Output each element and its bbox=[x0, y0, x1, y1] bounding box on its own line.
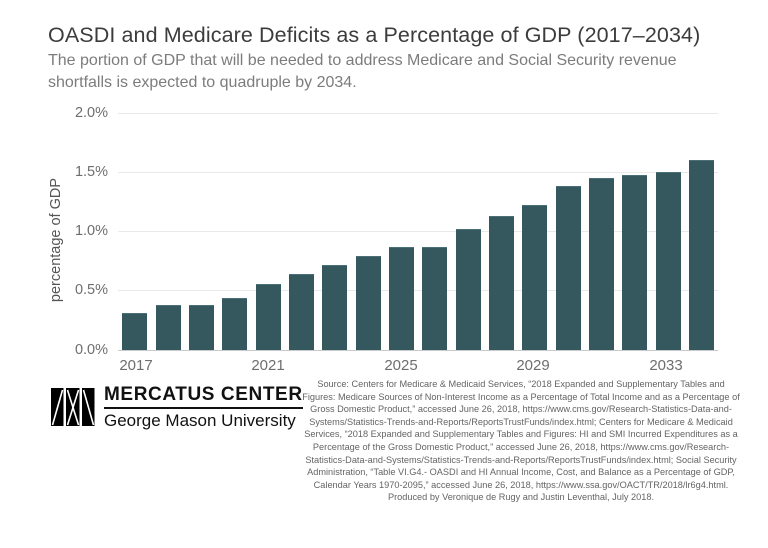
x-tick-label: 2017 bbox=[101, 357, 171, 374]
x-axis-line bbox=[118, 350, 718, 351]
y-tick-label: 1.0% bbox=[46, 224, 108, 239]
bar bbox=[222, 298, 247, 350]
bar bbox=[456, 229, 481, 350]
y-tick-label: 0.0% bbox=[46, 343, 108, 358]
bar bbox=[522, 205, 547, 350]
bar bbox=[289, 274, 314, 350]
mercatus-logo: MERCATUS CENTER George Mason University bbox=[51, 384, 303, 431]
source-note: Source: Centers for Medicare & Medicaid … bbox=[300, 378, 742, 504]
bar bbox=[122, 313, 147, 350]
bar bbox=[489, 216, 514, 350]
bar bbox=[589, 178, 614, 350]
bar bbox=[389, 247, 414, 350]
bar bbox=[256, 284, 281, 350]
x-tick-label: 2033 bbox=[631, 357, 701, 374]
bar bbox=[189, 305, 214, 350]
bar bbox=[322, 265, 347, 350]
bar bbox=[422, 247, 447, 350]
mercatus-logo-subtitle: George Mason University bbox=[104, 411, 303, 431]
bar bbox=[622, 175, 647, 350]
source-text: Source: Centers for Medicare & Medicaid … bbox=[300, 378, 742, 491]
x-tick-label: 2025 bbox=[366, 357, 436, 374]
y-tick-label: 1.5% bbox=[46, 165, 108, 180]
y-tick-label: 0.5% bbox=[46, 283, 108, 298]
y-tick-label: 2.0% bbox=[46, 106, 108, 121]
plot-area bbox=[118, 113, 718, 350]
source-credit: Produced by Veronique de Rugy and Justin… bbox=[300, 491, 742, 504]
chart-figure: OASDI and Medicare Deficits as a Percent… bbox=[0, 0, 768, 548]
y-axis-tick-labels: 2.0% 1.5% 1.0% 0.5% 0.0% bbox=[46, 0, 108, 548]
bar bbox=[556, 186, 581, 350]
x-tick-label: 2029 bbox=[498, 357, 568, 374]
bar bbox=[656, 172, 681, 350]
logo-divider bbox=[104, 407, 303, 409]
bar bbox=[356, 256, 381, 350]
mercatus-logo-text: MERCATUS CENTER George Mason University bbox=[104, 384, 303, 431]
bar bbox=[156, 305, 181, 350]
gridline bbox=[118, 172, 718, 173]
bar bbox=[689, 160, 714, 350]
x-tick-label: 2021 bbox=[233, 357, 303, 374]
mercatus-logo-title: MERCATUS CENTER bbox=[104, 384, 303, 405]
mercatus-m-logo-icon bbox=[51, 385, 95, 429]
gridline bbox=[118, 113, 718, 114]
